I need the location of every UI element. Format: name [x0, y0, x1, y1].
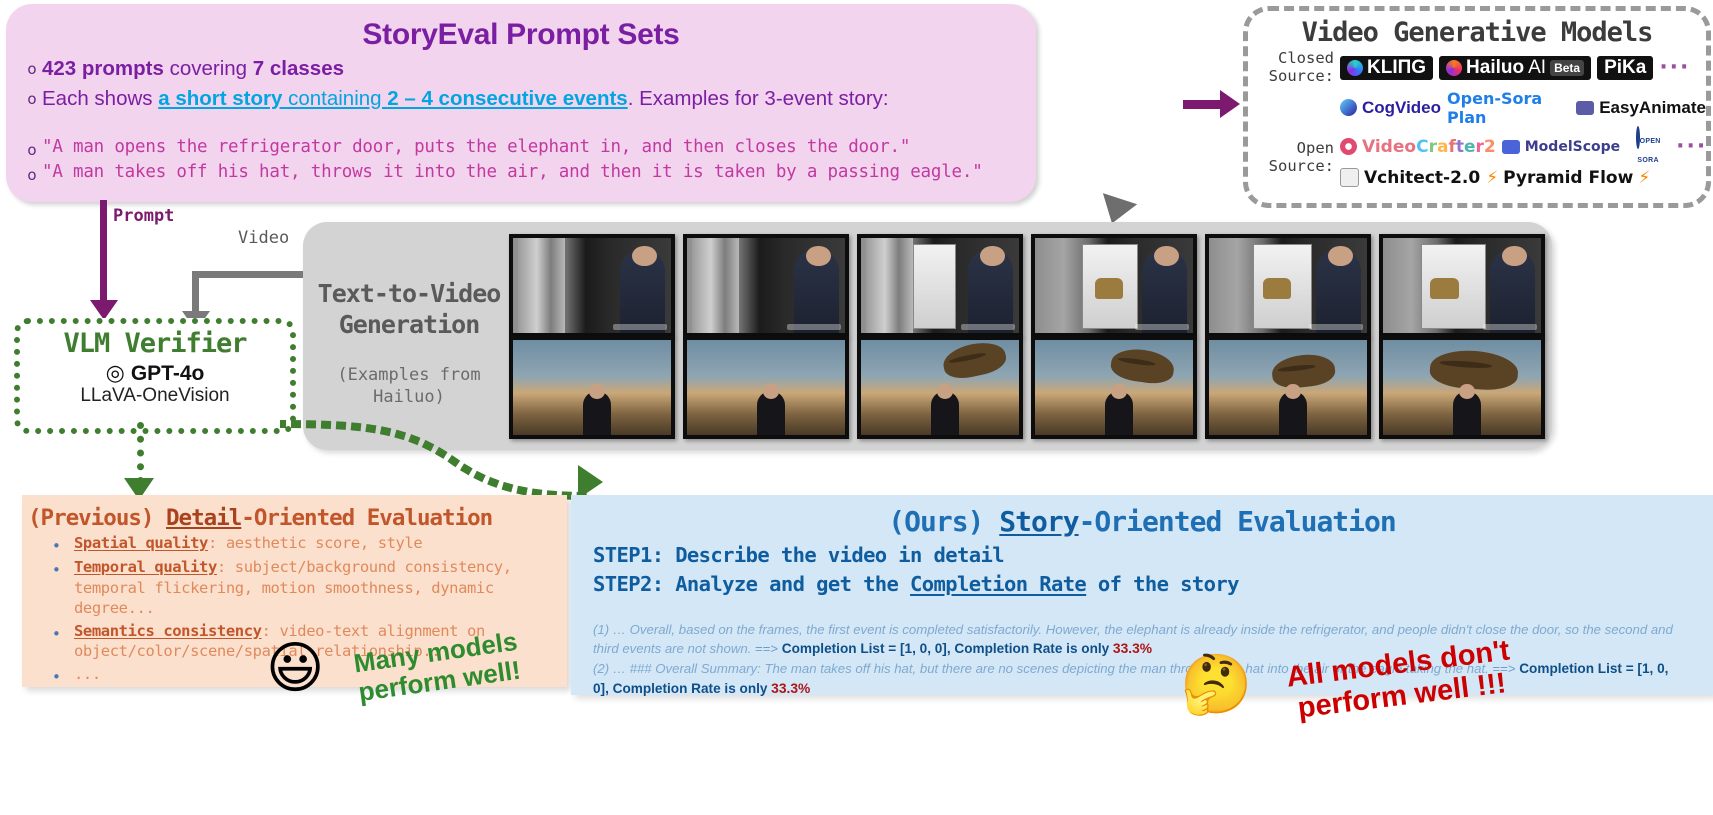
open-label-line2: Source:: [1248, 158, 1334, 176]
modelscope-icon: [1502, 140, 1520, 154]
pika-logo: PiKa: [1597, 56, 1653, 80]
story-example-1-completion: Completion List = [1, 0, 0], Completion …: [782, 641, 1109, 656]
line2-events: 2 – 4 consecutive events: [387, 87, 627, 110]
bullet-glyph: o: [22, 86, 42, 107]
arrow-prompt-stem: [100, 200, 107, 305]
kling-icon: [1347, 60, 1363, 76]
arrow-vlm-to-story-head: [578, 465, 603, 499]
video-generative-models-panel: Video Generative Models Closed Source: K…: [1243, 6, 1711, 208]
example-1-text: "A man opens the refrigerator door, puts…: [42, 137, 910, 157]
video-frame: [1205, 336, 1371, 439]
video-frames-row-refrigerator: [509, 234, 1545, 337]
open-source-row-b: Open Source: VideoCrafter2 VideoCrafter2…: [1248, 128, 1706, 188]
story-eval-title: (Ours) Story-Oriented Evaluation: [571, 505, 1713, 538]
pika-label: PiKa: [1604, 57, 1646, 79]
example-2-text: "A man takes off his hat, throws it into…: [42, 162, 983, 182]
easyanimate-icon: [1576, 101, 1594, 115]
line2-c: containing: [282, 87, 387, 110]
videocrafter2-logo: VideoCrafter2 VideoCrafter2: [1340, 137, 1496, 157]
video-frame: [1379, 234, 1545, 337]
bullet-glyph: o: [22, 56, 42, 77]
video-frame: [1031, 234, 1197, 337]
detail-item-term: Spatial quality: [74, 534, 208, 552]
open-source-logos-row2: VideoCrafter2 VideoCrafter2 ModelScope O…: [1340, 128, 1707, 166]
detail-item-term: Semantics consistency: [74, 622, 262, 640]
hailuo-beta-badge: Beta: [1550, 60, 1584, 76]
arrow-prompt-label: Prompt: [113, 206, 174, 226]
bullet-glyph: •: [52, 664, 74, 686]
video-models-title: Video Generative Models: [1248, 17, 1706, 48]
open-source-label: Open Source:: [1248, 140, 1340, 176]
gpt4o-row: ◎ GPT-4o: [20, 361, 290, 386]
openai-icon: ◎: [106, 361, 125, 386]
story-title-underlined: Story: [999, 505, 1078, 538]
detail-item-text: Spatial quality: aesthetic score, style: [74, 533, 422, 555]
line2-e: . Examples for 3-event story:: [628, 87, 889, 110]
prompt-sets-bullet-1: o 423 prompts covering 7 classes: [22, 56, 1036, 82]
open-source-logos-row1: CogVideo Open-Sora Plan EasyAnimate: [1340, 89, 1706, 127]
vchitect-label: Vchitect-2.0: [1364, 168, 1480, 188]
video-frames-row-eagle: [509, 336, 1545, 439]
closed-label-line1: Closed: [1248, 50, 1334, 68]
modelscope-label: ModelScope: [1525, 139, 1620, 155]
open-source-logos-row3: Vchitect-2.0 ⚡ Pyramid Flow ⚡: [1340, 168, 1707, 188]
story-step2-pre: STEP2: Analyze and get the: [593, 572, 910, 596]
video-frame: [683, 234, 849, 337]
easyanimate-label: EasyAnimate: [1599, 98, 1706, 118]
video-frame: [857, 234, 1023, 337]
story-example-1-arrow: ==>: [755, 641, 778, 656]
prompt-sets-panel: StoryEval Prompt Sets o 423 prompts cove…: [6, 4, 1036, 202]
video-frame: [683, 336, 849, 439]
closed-source-ellipsis-icon: ···: [1659, 55, 1690, 80]
bullet-glyph: •: [52, 621, 74, 662]
bullet-glyph: o: [22, 162, 42, 183]
prompt-sets-line-2: Each shows a short story containing 2 – …: [42, 86, 889, 112]
closed-label-line2: Source:: [1248, 68, 1334, 86]
story-title-pre: (Ours): [888, 505, 999, 538]
hailuo-logo: Hailuo AI Beta: [1439, 56, 1591, 80]
arrow-prompt-to-models-stem: [1183, 100, 1225, 109]
open-source-spacer-label: [1248, 99, 1340, 117]
closed-source-logos: KLIПG Hailuo AI Beta PiKa ···: [1340, 55, 1690, 80]
detail-item: • Spatial quality: aesthetic score, styl…: [52, 533, 567, 555]
prompt-sets-title: StoryEval Prompt Sets: [6, 18, 1036, 52]
story-step-1: STEP1: Describe the video in detail: [593, 543, 1713, 567]
detail-item: • Temporal quality: subject/background c…: [52, 557, 567, 619]
hailuo-icon: [1446, 60, 1462, 76]
bullet-glyph: •: [52, 533, 74, 555]
line2-short-story: a short story: [158, 87, 282, 110]
gpt4o-label: GPT-4o: [131, 362, 205, 386]
bolt-icon: ⚡: [1638, 168, 1650, 188]
open-source-logos-stack: VideoCrafter2 VideoCrafter2 ModelScope O…: [1340, 128, 1707, 188]
prompt-sets-example-1: o "A man opens the refrigerator door, pu…: [22, 137, 1036, 158]
prompt-sets-line-1: 423 prompts covering 7 classes: [42, 56, 344, 82]
video-frame: [857, 336, 1023, 439]
hailuo-label: Hailuo: [1466, 57, 1524, 79]
easyanimate-logo: EasyAnimate: [1576, 98, 1706, 118]
open-label-line1: Open: [1248, 140, 1334, 158]
vlm-verifier-title: VLM Verifier: [20, 328, 290, 359]
vlm-verifier-panel: VLM Verifier ◎ GPT-4o LLaVA-OneVision: [14, 318, 296, 434]
arrow-prompt-to-models-head: [1220, 90, 1240, 118]
video-frame: [1031, 336, 1197, 439]
count-prompts: 423 prompts: [42, 57, 164, 80]
kling-logo: KLIПG: [1340, 56, 1433, 80]
story-step2-underlined: Completion Rate: [910, 572, 1086, 596]
open-source-ellipsis-icon: ···: [1676, 134, 1707, 159]
kling-label: KLIПG: [1367, 57, 1426, 79]
arrow-vlm-to-story-curve: [280, 400, 590, 510]
story-title-post: -Oriented Evaluation: [1079, 505, 1396, 538]
modelscope-logo: ModelScope: [1502, 139, 1620, 155]
story-example-1-rate: 33.3%: [1113, 641, 1152, 656]
detail-eval-title: (Previous) Detail-Oriented Evaluation: [28, 505, 567, 531]
closed-source-row: Closed Source: KLIПG Hailuo AI Beta PiKa…: [1248, 50, 1706, 86]
cogvideo-label: CogVideo: [1362, 98, 1441, 118]
prompt-sets-bullet-2: o Each shows a short story containing 2 …: [22, 86, 1036, 112]
arrow-vlm-to-detail-stem: [137, 422, 144, 484]
story-example-2-rate: 33.3%: [771, 681, 810, 696]
hailuo-ai-label: AI: [1528, 57, 1546, 79]
open-sora-plan-label: Open-Sora Plan: [1447, 89, 1570, 127]
count-classes: 7 classes: [253, 57, 344, 80]
video-frame: [1379, 336, 1545, 439]
bolt-icon: ⚡: [1486, 168, 1498, 188]
story-step-2: STEP2: Analyze and get the Completion Ra…: [593, 572, 1713, 596]
closed-source-label: Closed Source:: [1248, 50, 1340, 86]
smiley-emoji-icon: 😃: [266, 641, 324, 697]
detail-item-rest: ...: [74, 664, 101, 686]
bullet-glyph: •: [52, 557, 74, 619]
t2v-title-line2: Generation: [309, 309, 509, 340]
t2v-title-line1: Text-to-Video: [309, 278, 509, 309]
detail-item-text: Temporal quality: subject/background con…: [74, 557, 567, 619]
bullet-glyph: o: [22, 137, 42, 158]
detail-title-underlined: Detail: [166, 505, 241, 531]
line2-a: Each shows: [42, 87, 158, 110]
vchitect-icon: [1340, 168, 1359, 187]
story-step2-post: of the story: [1086, 572, 1239, 596]
video-frame: [1205, 234, 1371, 337]
thinking-emoji-icon: 🤔: [1180, 655, 1252, 713]
vchitect-logo: Vchitect-2.0: [1340, 168, 1480, 188]
cogvideo-icon: [1340, 99, 1357, 116]
cogvideo-logo: CogVideo: [1340, 98, 1441, 118]
detail-title-post: -Oriented Evaluation: [241, 505, 492, 531]
detail-item-term: Temporal quality: [74, 558, 217, 576]
opensora-label: OPEN SORA: [1637, 138, 1660, 164]
arrow-prompt-head: [90, 300, 118, 320]
opensora-logo: OPEN SORA: [1626, 128, 1670, 166]
detail-title-pre: (Previous): [28, 505, 166, 531]
arrow-video-label: Video: [238, 228, 289, 248]
video-frame: [509, 234, 675, 337]
videocrafter2-icon: [1340, 138, 1357, 155]
t2v-title: Text-to-Video Generation: [309, 278, 509, 341]
prompt-sets-example-2: o "A man takes off his hat, throws it in…: [22, 162, 1036, 183]
arrow-video-vertical: [192, 271, 199, 316]
spacer: [6, 111, 1036, 133]
llava-label: LLaVA-OneVision: [20, 385, 290, 407]
pyramid-flow-label: Pyramid Flow: [1503, 168, 1633, 188]
pyramid-flow-logo: ⚡ Pyramid Flow ⚡: [1486, 168, 1650, 188]
detail-item-rest: : aesthetic score, style: [208, 534, 422, 552]
open-source-row-a: CogVideo Open-Sora Plan EasyAnimate: [1248, 89, 1706, 127]
t2v-subtitle-line1: (Examples from: [309, 364, 509, 386]
